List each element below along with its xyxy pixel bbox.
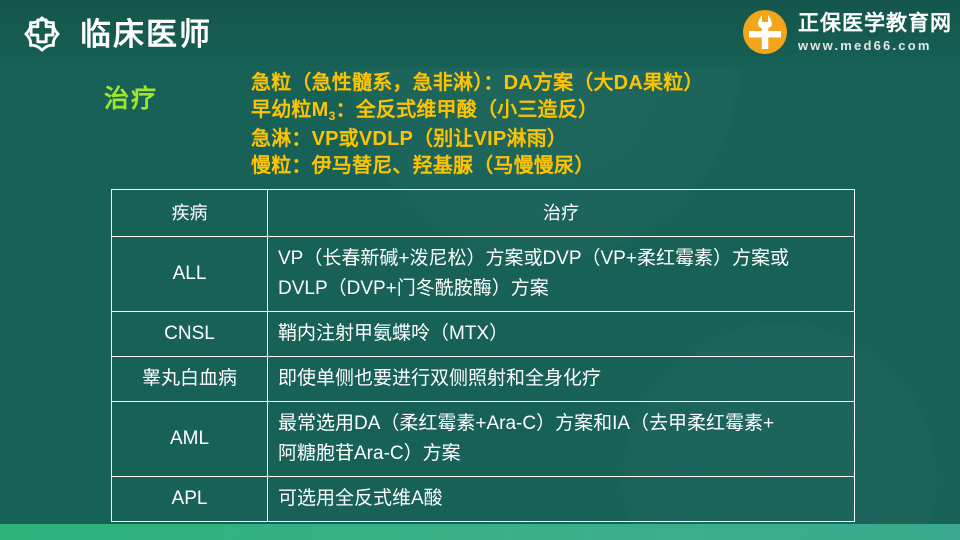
treatment-line: DVLP（DVP+门冬酰胺酶）方案 xyxy=(278,274,844,304)
section-label: 治疗 xyxy=(104,79,158,115)
table-row: 睾丸白血病 即使单侧也要进行双侧照射和全身化疗 xyxy=(112,357,855,402)
table-row: APL 可选用全反式维A酸 xyxy=(112,477,855,522)
bullet-block: 急粒（急性髓系，急非淋）：DA方案（大DA果粒） 早幼粒M3：全反式维甲酸（小三… xyxy=(251,70,951,180)
table-header-row: 疾病 治疗 xyxy=(112,190,855,237)
treatment-line: VP（长春新碱+泼尼松）方案或DVP（VP+柔红霉素）方案或 xyxy=(278,244,844,274)
brand-right[interactable]: 正保医学教育网 www.med66.com xyxy=(740,7,952,57)
treatment-line: 鞘内注射甲氨蝶呤（MTX） xyxy=(278,319,844,349)
med66-circle-cross-icon xyxy=(740,7,790,57)
bullet-line-2: 早幼粒M3：全反式维甲酸（小三造反） xyxy=(251,97,951,126)
cell-disease: 睾丸白血病 xyxy=(112,357,268,402)
column-header-disease: 疾病 xyxy=(112,190,268,237)
cell-disease: ALL xyxy=(112,237,268,312)
table-head: 疾病 治疗 xyxy=(112,190,855,237)
column-header-treatment: 治疗 xyxy=(268,190,855,237)
bullet-line-1: 急粒（急性髓系，急非淋）：DA方案（大DA果粒） xyxy=(251,70,951,97)
table-row: ALL VP（长春新碱+泼尼松）方案或DVP（VP+柔红霉素）方案或 DVLP（… xyxy=(112,237,855,312)
cell-treatment: 可选用全反式维A酸 xyxy=(268,477,855,522)
footer-accent-bar xyxy=(0,524,960,540)
brand-left: 临床医师 xyxy=(16,8,212,60)
med66-brand-url: www.med66.com xyxy=(798,39,952,52)
cell-disease: AML xyxy=(112,402,268,477)
cell-disease: APL xyxy=(112,477,268,522)
cell-treatment: 最常选用DA（柔红霉素+Ara-C）方案和IA（去甲柔红霉素+ 阿糖胞苷Ara-… xyxy=(268,402,855,477)
treatment-line: 阿糖胞苷Ara-C）方案 xyxy=(278,439,844,469)
bullet-2-subscript: 3 xyxy=(328,109,335,123)
hospital-cross-emblem-icon xyxy=(16,8,68,60)
cell-treatment: 鞘内注射甲氨蝶呤（MTX） xyxy=(268,312,855,357)
treatment-table: 疾病 治疗 ALL VP（长春新碱+泼尼松）方案或DVP（VP+柔红霉素）方案或… xyxy=(111,189,855,522)
brand-left-title: 临床医师 xyxy=(80,19,212,50)
cell-treatment: 即使单侧也要进行双侧照射和全身化疗 xyxy=(268,357,855,402)
bullet-line-4: 慢粒：伊马替尼、羟基脲（马慢慢尿） xyxy=(251,153,951,180)
table-row: AML 最常选用DA（柔红霉素+Ara-C）方案和IA（去甲柔红霉素+ 阿糖胞苷… xyxy=(112,402,855,477)
table-body: ALL VP（长春新碱+泼尼松）方案或DVP（VP+柔红霉素）方案或 DVLP（… xyxy=(112,237,855,522)
treatment-line: 可选用全反式维A酸 xyxy=(278,484,844,514)
treatment-line: 即使单侧也要进行双侧照射和全身化疗 xyxy=(278,364,844,394)
slide-canvas: 临床医师 正保医学教育网 www.med66.com 治疗 急粒（急性髓系，急非… xyxy=(0,0,960,540)
treatment-line: 最常选用DA（柔红霉素+Ara-C）方案和IA（去甲柔红霉素+ xyxy=(278,409,844,439)
table-row: CNSL 鞘内注射甲氨蝶呤（MTX） xyxy=(112,312,855,357)
bullet-2-prefix: 早幼粒M xyxy=(251,99,328,121)
med66-wordmark: 正保医学教育网 www.med66.com xyxy=(798,13,952,52)
cell-disease: CNSL xyxy=(112,312,268,357)
cell-treatment: VP（长春新碱+泼尼松）方案或DVP（VP+柔红霉素）方案或 DVLP（DVP+… xyxy=(268,237,855,312)
med66-brand-cn: 正保医学教育网 xyxy=(798,13,952,34)
bullet-line-3: 急淋：VP或VDLP（别让VIP淋雨） xyxy=(251,126,951,153)
bullet-2-suffix: ：全反式维甲酸（小三造反） xyxy=(336,99,599,121)
